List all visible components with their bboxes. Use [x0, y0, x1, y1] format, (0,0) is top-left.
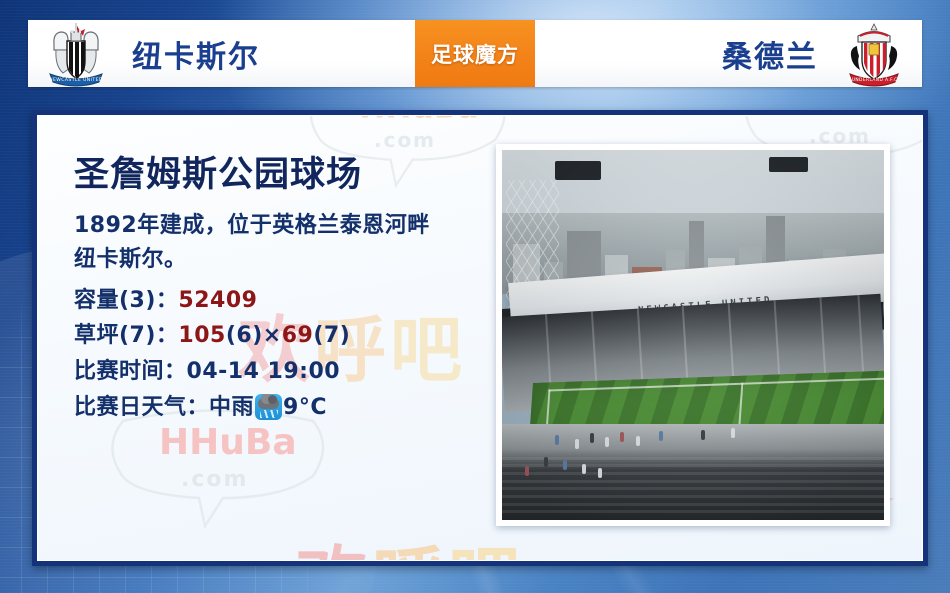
stadium-title: 圣詹姆斯公园球场: [74, 156, 474, 195]
stadium-panel: HHuBa .com HHuBa .com HHuBa .com: [32, 110, 928, 566]
photo-stand-fascia: NEWCASTLE UNITED: [510, 281, 884, 331]
svg-text:.com: .com: [374, 128, 436, 152]
photo-advertising-board: [670, 424, 731, 428]
watermark-char-3: 吧: [448, 538, 524, 561]
photo-advertising-board: [586, 431, 655, 435]
svg-text:.com: .com: [181, 467, 248, 492]
pitch-size-row: 草坪(7)：105(6)×69(7): [74, 318, 474, 354]
photo-pitch: [525, 369, 884, 494]
home-team-block: NEWCASTLE UNITED 纽卡斯尔: [28, 20, 415, 87]
photo-perimeter-track: [510, 425, 884, 464]
weather-value: 中雨: [209, 395, 254, 420]
kickoff-row: 比赛时间：04-14 19:00: [74, 354, 474, 390]
svg-text:SUNDERLAND A.F.C.: SUNDERLAND A.F.C.: [849, 77, 900, 83]
away-team-block: 桑德兰 SUNDERLAND A.F.C.: [535, 20, 922, 87]
watermark-brand-cn: 欢呼吧: [296, 521, 524, 561]
match-header-bar: NEWCASTLE UNITED 纽卡斯尔 足球魔方 桑德兰: [28, 20, 922, 87]
photo-cityscape: [502, 213, 884, 294]
away-team-name: 桑德兰: [722, 32, 818, 76]
kickoff-label: 比赛时间：: [74, 359, 187, 384]
watermark-char-1: 欢: [296, 538, 372, 561]
svg-text:HHuBa: HHuBa: [794, 115, 914, 121]
stadium-info-column: 圣詹姆斯公园球场 1892年建成，位于英格兰泰恩河畔纽卡斯尔。 容量(3)：52…: [74, 156, 474, 425]
svg-text:HHuBa: HHuBa: [159, 422, 297, 463]
pitch-width-value: 69: [282, 323, 314, 348]
photo-floodlight-bank: [555, 161, 601, 180]
pitch-label: 草坪(7)：: [74, 323, 178, 348]
rain-cloud-icon: [255, 394, 282, 420]
site-logo[interactable]: 足球魔方: [415, 20, 535, 87]
photo-facade-text: NEWCASTLE UNITED: [637, 296, 772, 317]
pitch-length-value: 105: [178, 323, 225, 348]
photo-floodlight-pylon: [506, 180, 559, 313]
stadium-description: 1892年建成，位于英格兰泰恩河畔纽卡斯尔。: [74, 209, 449, 277]
photo-sky: [502, 150, 884, 283]
temperature-value: 9°C: [283, 395, 327, 420]
site-logo-text: 足球魔方: [431, 39, 519, 69]
weather-row: 比赛日天气：中雨9°C: [74, 390, 474, 426]
photo-main-stand: [502, 293, 884, 412]
pitch-width-rank: (7): [313, 323, 350, 348]
stadium-info-card: NEWCASTLE UNITED 纽卡斯尔 足球魔方 桑德兰: [0, 0, 950, 593]
kickoff-value: 04-14 19:00: [187, 359, 341, 384]
weather-label: 比赛日天气：: [74, 395, 209, 420]
photo-upper-tier-shade: [502, 286, 884, 354]
stadium-photo-frame: NEWCASTLE UNITED: [496, 144, 890, 526]
photo-lower-tier-seats: [502, 424, 884, 520]
pitch-dimension-separator: ×: [263, 323, 282, 348]
photo-floodlight-bank: [769, 157, 807, 172]
st-james-park-photo: NEWCASTLE UNITED: [502, 150, 884, 520]
sunderland-crest-icon: SUNDERLAND A.F.C.: [844, 20, 904, 88]
stadium-panel-inner: HHuBa .com HHuBa .com HHuBa .com: [37, 115, 923, 561]
photo-stand-roof: NEWCASTLE UNITED: [508, 253, 884, 332]
home-team-name: 纽卡斯尔: [132, 32, 260, 76]
newcastle-united-crest-icon: NEWCASTLE UNITED: [46, 20, 106, 88]
svg-text:NEWCASTLE UNITED: NEWCASTLE UNITED: [49, 77, 103, 83]
capacity-value: 52409: [178, 288, 257, 313]
watermark-char-2: 呼: [372, 538, 448, 561]
svg-text:HHuBa: HHuBa: [359, 115, 479, 125]
capacity-row: 容量(3)：52409: [74, 283, 474, 319]
capacity-label: 容量(3)：: [74, 288, 178, 313]
pitch-length-rank: (6): [226, 323, 263, 348]
